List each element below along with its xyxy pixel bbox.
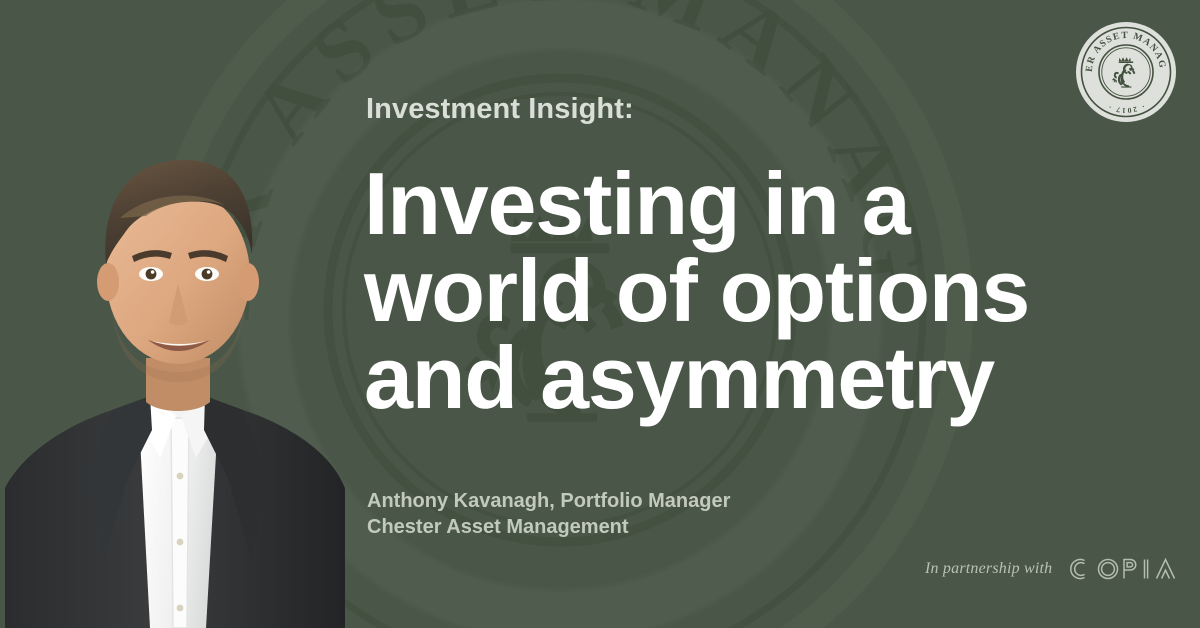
headline-line-3: and asymmetry [364,334,1124,421]
brand-logo: CHESTER ASSET MANAGEMENT · 2017 · [1076,22,1176,122]
headline-line-1: Investing in a [364,160,1124,247]
headline-line-2: world of options [364,247,1124,334]
byline-company: Chester Asset Management [367,515,730,541]
eyebrow-label: Investment Insight: [366,93,634,126]
page-title: Investing in a world of options and asym… [364,160,1124,421]
portrait-photo [0,58,345,628]
partnership-block: In partnership with [925,553,1184,585]
byline-author: Anthony Kavanagh, Portfolio Manager [367,489,730,515]
partnership-label: In partnership with [925,560,1052,578]
share-card-canvas: CHESTER ASSET MANAGEMENT · 2017 · [0,0,1200,628]
byline: Anthony Kavanagh, Portfolio Manager Ches… [367,489,730,540]
copia-logo [1064,553,1184,585]
